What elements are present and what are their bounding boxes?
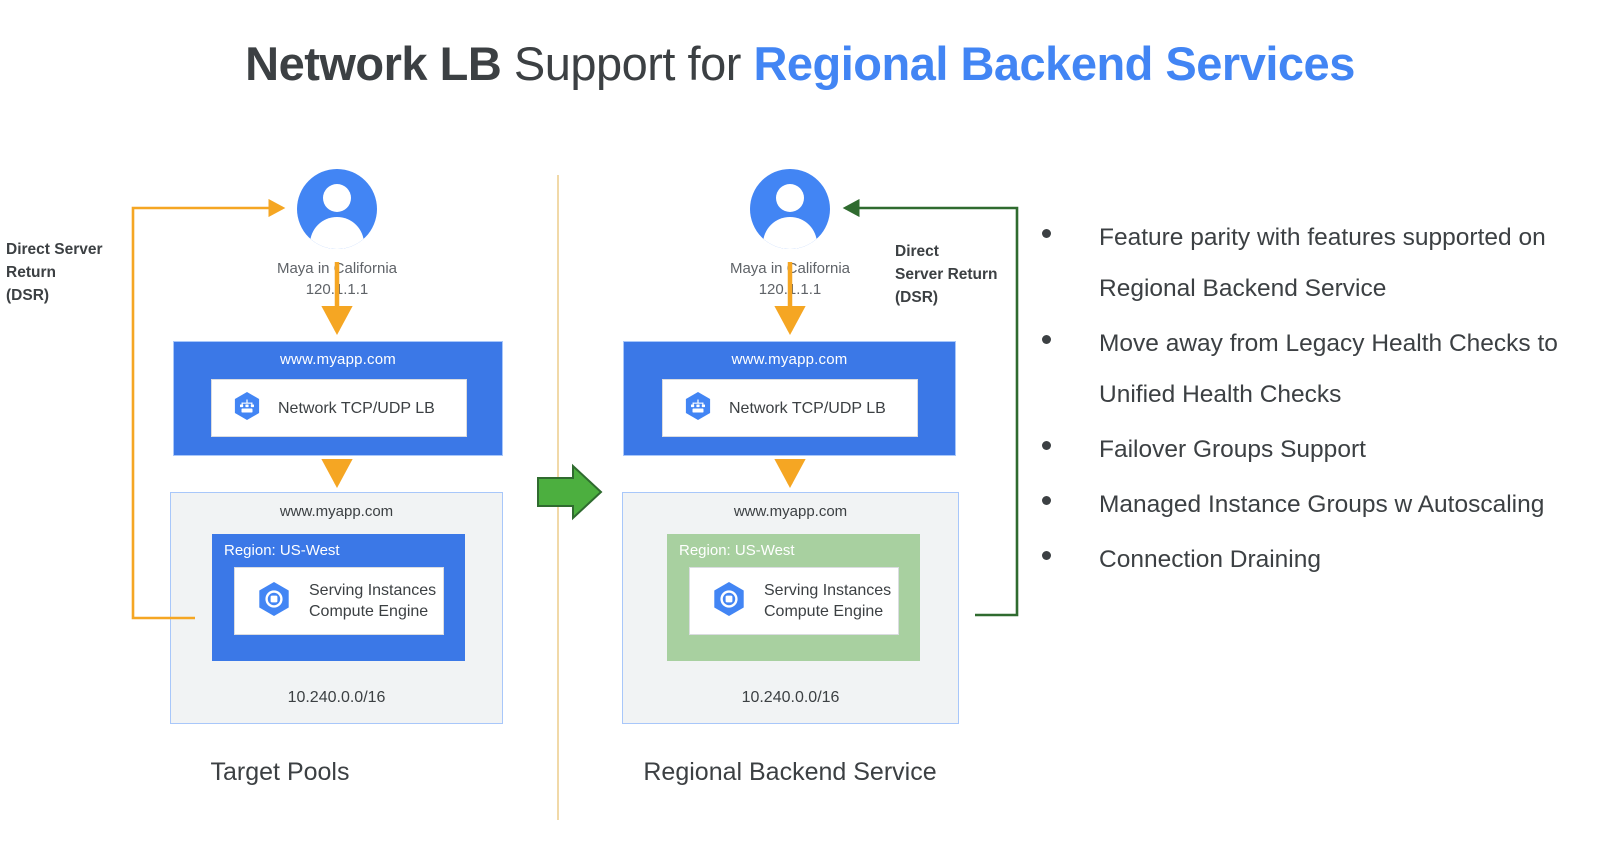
compute-engine-icon — [708, 578, 750, 625]
left-network-card-title: www.myapp.com — [171, 503, 502, 520]
feature-bullet-list: Feature parity with features supported o… — [1042, 212, 1562, 589]
left-lb-card-title: www.myapp.com — [174, 351, 502, 368]
bullet-dot-icon — [1042, 441, 1051, 450]
left-network-cidr: 10.240.0.0/16 — [171, 689, 502, 707]
left-instance-line-2: Compute Engine — [309, 601, 436, 622]
right-panel: Direct Server Return (DSR) Maya in Calif… — [560, 0, 1030, 842]
left-instance-box: Serving Instances Compute Engine — [234, 567, 444, 635]
left-avatar-clip — [297, 169, 377, 249]
bullet-dot-icon — [1042, 335, 1051, 344]
network-load-balancer-icon — [230, 389, 264, 428]
right-avatar-body — [763, 217, 817, 249]
list-item: Managed Instance Groups w Autoscaling — [1042, 479, 1562, 530]
right-person-name: Maya in California — [650, 258, 930, 279]
left-avatar-head — [323, 184, 351, 212]
left-avatar-body — [310, 217, 364, 249]
right-lb-card: www.myapp.com Network TCP/UD — [623, 341, 956, 456]
left-region-title: Region: US-West — [224, 542, 340, 559]
list-item: Failover Groups Support — [1042, 424, 1562, 475]
right-lb-card-title: www.myapp.com — [624, 351, 955, 368]
left-person-ip: 120.1.1.1 — [197, 279, 477, 300]
bullet-text: Feature parity with features supported o… — [1099, 212, 1562, 314]
bullet-text: Move away from Legacy Health Checks to U… — [1099, 318, 1562, 420]
right-instance-label: Serving Instances Compute Engine — [764, 580, 891, 622]
right-network-card-title: www.myapp.com — [623, 503, 958, 520]
left-user-avatar-icon — [297, 169, 377, 249]
left-dsr-line-3: (DSR) — [6, 284, 186, 307]
left-instance-label: Serving Instances Compute Engine — [309, 580, 436, 622]
right-panel-caption: Regional Backend Service — [575, 758, 1005, 787]
left-dsr-line-2: Return — [6, 261, 186, 284]
left-lb-inner: Network TCP/UDP LB — [211, 379, 467, 437]
right-person-label: Maya in California 120.1.1.1 — [650, 258, 930, 300]
list-item: Connection Draining — [1042, 534, 1562, 585]
right-instance-box: Serving Instances Compute Engine — [689, 567, 899, 635]
right-user-avatar-icon — [750, 169, 830, 249]
left-panel-caption: Target Pools — [110, 758, 450, 787]
right-avatar-head — [776, 184, 804, 212]
panel-divider — [557, 175, 559, 820]
network-load-balancer-icon — [681, 389, 715, 428]
list-item: Feature parity with features supported o… — [1042, 212, 1562, 314]
left-person-name: Maya in California — [197, 258, 477, 279]
right-network-card: www.myapp.com Region: US-West Serving In… — [622, 492, 959, 724]
right-lb-inner: Network TCP/UDP LB — [662, 379, 918, 437]
left-panel: Direct Server Return (DSR) Maya in Calif… — [0, 0, 540, 842]
right-instance-line-1: Serving Instances — [764, 580, 891, 601]
left-region-box: Region: US-West Serving Instances Comput… — [212, 534, 465, 661]
left-lb-label: Network TCP/UDP LB — [278, 398, 435, 419]
right-region-box: Region: US-West Serving Instances Comput… — [667, 534, 920, 661]
bullet-dot-icon — [1042, 229, 1051, 238]
right-lb-label: Network TCP/UDP LB — [729, 398, 886, 419]
slide-root: Network LB Support for Regional Backend … — [0, 0, 1600, 842]
bullet-text: Connection Draining — [1099, 534, 1562, 585]
left-lb-card: www.myapp.com Network TCP/UD — [173, 341, 503, 456]
bullet-text: Managed Instance Groups w Autoscaling — [1099, 479, 1562, 530]
left-person-label: Maya in California 120.1.1.1 — [197, 258, 477, 300]
bullet-dot-icon — [1042, 496, 1051, 505]
compute-engine-icon — [253, 578, 295, 625]
left-dsr-line-1: Direct Server — [6, 238, 186, 261]
right-avatar-clip — [750, 169, 830, 249]
bullet-text: Failover Groups Support — [1099, 424, 1562, 475]
right-person-ip: 120.1.1.1 — [650, 279, 930, 300]
right-region-title: Region: US-West — [679, 542, 795, 559]
bullet-dot-icon — [1042, 551, 1051, 560]
left-instance-line-1: Serving Instances — [309, 580, 436, 601]
list-item: Move away from Legacy Health Checks to U… — [1042, 318, 1562, 420]
left-network-card: www.myapp.com Region: US-West Serving In… — [170, 492, 503, 724]
left-dsr-label: Direct Server Return (DSR) — [6, 238, 186, 307]
right-instance-line-2: Compute Engine — [764, 601, 891, 622]
right-network-cidr: 10.240.0.0/16 — [623, 689, 958, 707]
